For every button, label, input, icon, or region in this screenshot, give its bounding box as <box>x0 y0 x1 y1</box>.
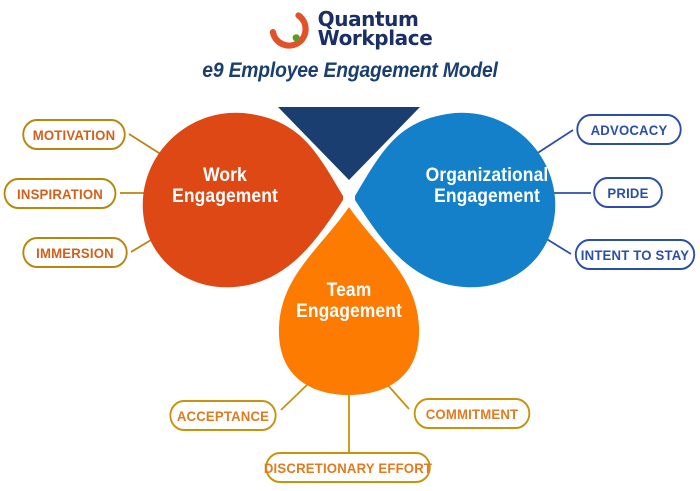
driver-pill-pride[interactable]: PRIDE <box>593 177 663 208</box>
driver-label: IMMERSION <box>36 245 114 261</box>
driver-label: DISCRETIONARY EFFORT <box>264 460 432 476</box>
driver-label: ACCEPTANCE <box>177 408 269 424</box>
driver-label: INSPIRATION <box>17 186 103 202</box>
driver-pill-inspiration[interactable]: INSPIRATION <box>4 178 117 209</box>
driver-label: PRIDE <box>607 185 648 201</box>
engagement-model-infographic: Quantum Workplace e9 Employee Engagement… <box>0 0 700 491</box>
driver-pill-commitment[interactable]: COMMITMENT <box>414 398 531 429</box>
driver-pill-immersion[interactable]: IMMERSION <box>22 237 127 268</box>
driver-pill-acceptance[interactable]: ACCEPTANCE <box>169 400 276 431</box>
driver-label: ADVOCACY <box>591 122 668 138</box>
driver-pill-discretionary-effort[interactable]: DISCRETIONARY EFFORT <box>265 452 430 483</box>
driver-label: INTENT TO STAY <box>581 247 689 263</box>
driver-pill-motivation[interactable]: MOTIVATION <box>22 119 125 150</box>
driver-label: MOTIVATION <box>33 127 116 143</box>
driver-label: COMMITMENT <box>426 406 519 422</box>
driver-pill-advocacy[interactable]: ADVOCACY <box>576 114 681 145</box>
driver-pill-intent-to-stay[interactable]: INTENT TO STAY <box>575 239 695 270</box>
